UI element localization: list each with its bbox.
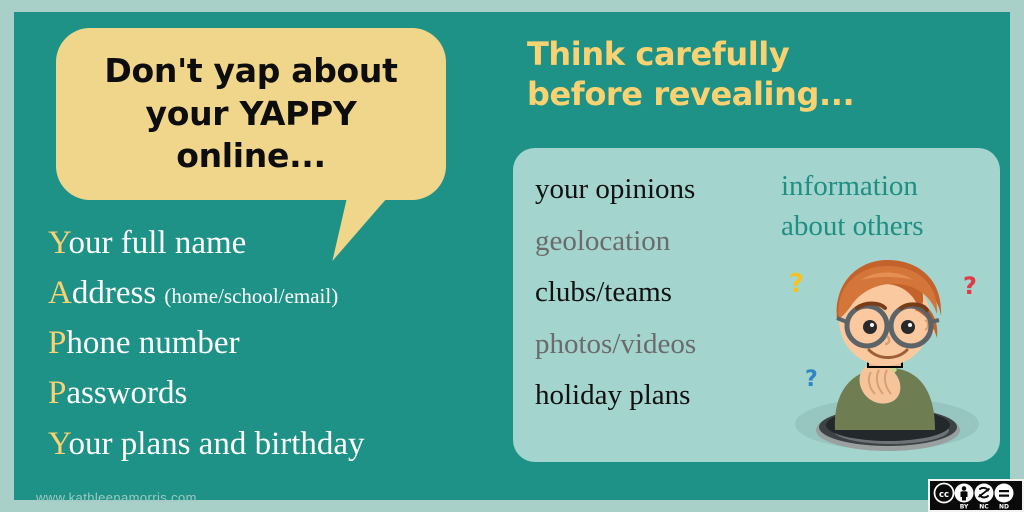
aside-line-1: information xyxy=(781,166,996,206)
svg-text:?: ? xyxy=(805,367,818,392)
yappy-item-text: our full name xyxy=(69,225,247,261)
svg-text:cc: cc xyxy=(939,490,949,500)
thinking-boy-icon: ? ? ? xyxy=(775,258,995,454)
svg-text:?: ? xyxy=(963,272,977,300)
yappy-list-item: Your plans and birthday xyxy=(48,419,518,469)
yappy-initial-letter: Y xyxy=(48,426,69,462)
cc-by-nc-nd-icon: cc BY NC ND xyxy=(931,482,1021,510)
right-heading-line-2: before revealing... xyxy=(527,74,1007,114)
question-mark-red-icon: ? xyxy=(963,272,977,300)
svg-text:ND: ND xyxy=(999,503,1009,510)
yappy-list-item: Phone number xyxy=(48,318,518,368)
yappy-item-text: asswords xyxy=(66,375,187,411)
yappy-list-item: Address (home/school/email) xyxy=(48,268,518,318)
yappy-item-text: ddress xyxy=(72,275,165,311)
right-heading: Think carefully before revealing... xyxy=(527,34,1007,115)
revealing-list-item: clubs/teams xyxy=(535,267,785,319)
revealing-list-item: geolocation xyxy=(535,216,785,268)
svg-text:NC: NC xyxy=(979,503,989,510)
yappy-item-note: (home/school/email) xyxy=(164,284,338,308)
poster-root: Don't yap about your YAPPY online... You… xyxy=(0,0,1024,512)
creative-commons-license-badge[interactable]: cc BY NC ND xyxy=(928,479,1024,512)
yappy-initial-letter: Y xyxy=(48,225,69,261)
svg-text:BY: BY xyxy=(960,503,969,510)
revealing-list-item: holiday plans xyxy=(535,370,785,422)
thinking-boy-illustration: ? ? ? xyxy=(775,258,995,454)
right-heading-line-1: Think carefully xyxy=(527,34,1007,74)
yappy-initial-letter: P xyxy=(48,325,66,361)
revealing-item-list: your opinions geolocation clubs/teams ph… xyxy=(535,164,785,422)
poster-canvas: Don't yap about your YAPPY online... You… xyxy=(14,12,1010,500)
revealing-list-item: your opinions xyxy=(535,164,785,216)
question-mark-blue-icon: ? xyxy=(805,367,818,392)
yappy-list-item: Passwords xyxy=(48,368,518,418)
speech-bubble: Don't yap about your YAPPY online... xyxy=(56,28,446,200)
yappy-item-text: our plans and birthday xyxy=(69,426,365,462)
revealing-aside-note: information about others xyxy=(781,166,996,246)
revealing-list-item: photos/videos xyxy=(535,319,785,371)
yappy-item-text: hone number xyxy=(66,325,239,361)
question-mark-yellow-icon: ? xyxy=(789,269,804,299)
yappy-acronym-list: Your full name Address (home/school/emai… xyxy=(48,218,518,469)
yappy-initial-letter: P xyxy=(48,375,66,411)
yappy-list-item: Your full name xyxy=(48,218,518,268)
site-url-text: www.kathleenamorris.com xyxy=(36,490,197,505)
svg-text:?: ? xyxy=(789,269,804,299)
speech-bubble-text: Don't yap about your YAPPY online... xyxy=(56,50,446,179)
yappy-initial-letter: A xyxy=(48,275,72,311)
revealing-panel: your opinions geolocation clubs/teams ph… xyxy=(513,148,1000,462)
aside-line-2: about others xyxy=(781,206,996,246)
